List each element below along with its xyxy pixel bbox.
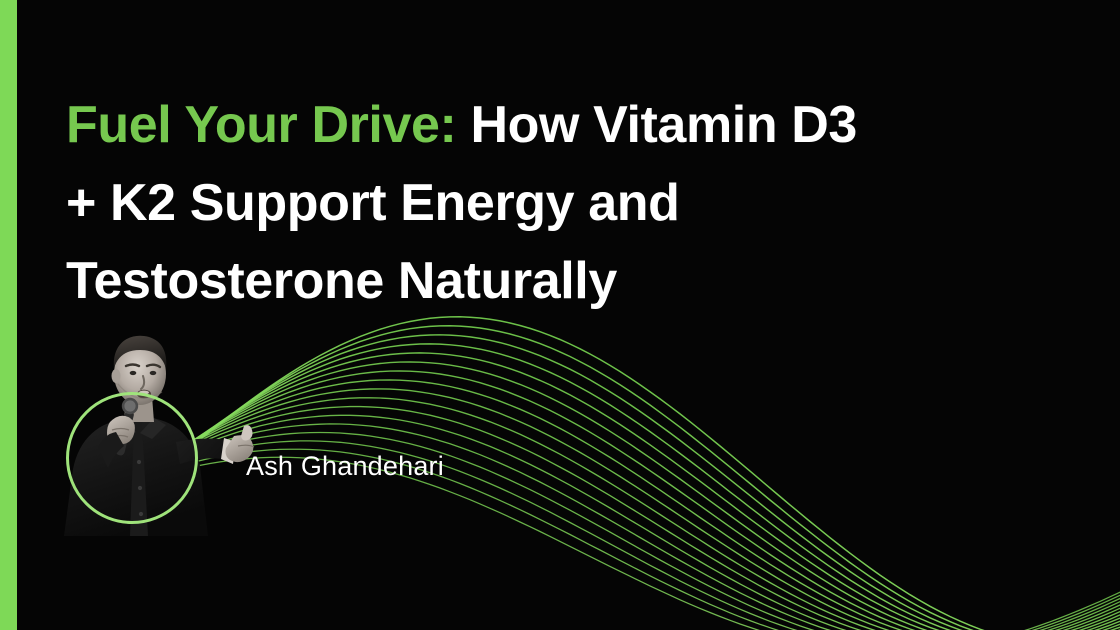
title-card: Fuel Your Drive: How Vitamin D3 + K2 Sup… xyxy=(0,0,1120,630)
title-line-1: Fuel Your Drive: How Vitamin D3 xyxy=(66,86,1046,164)
title-highlight: Fuel Your Drive: xyxy=(66,96,456,154)
left-accent-bar xyxy=(0,0,17,630)
author-block: Ash Ghandehari xyxy=(66,330,444,524)
title-line-1-rest xyxy=(456,96,470,154)
title-line-2: + K2 Support Energy and xyxy=(66,164,1046,242)
page-title: Fuel Your Drive: How Vitamin D3 + K2 Sup… xyxy=(66,86,1046,320)
avatar-ring xyxy=(66,392,198,524)
avatar xyxy=(66,392,198,524)
title-line-3: Testosterone Naturally xyxy=(66,242,1046,320)
title-line-1-text: How Vitamin D3 xyxy=(471,96,857,154)
author-name: Ash Ghandehari xyxy=(246,451,444,482)
